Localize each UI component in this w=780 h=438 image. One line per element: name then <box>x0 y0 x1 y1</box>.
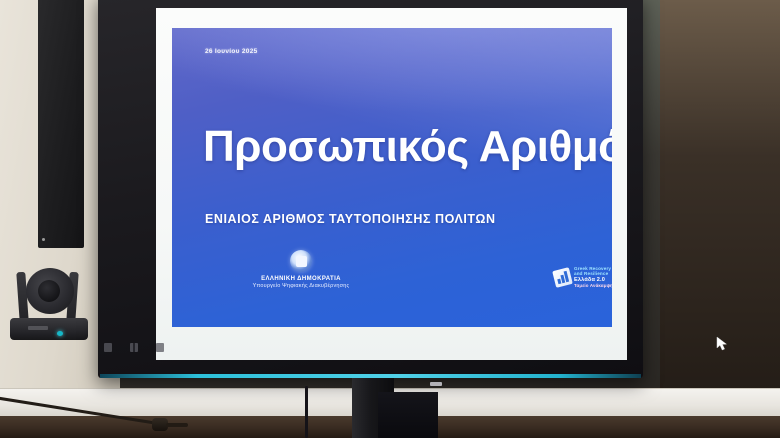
presentation-slide[interactable]: 26 Ιουνίου 2025 Προσωπικός Αριθμός ΕΝΙΑΙ… <box>172 28 612 327</box>
menu-icon[interactable] <box>130 343 138 352</box>
mouse-pointer <box>716 336 730 352</box>
government-logo: ΕΛΛΗΝΙΚΗ ΔΗΜΟΚΡΑΤΙΑ Υπουργείο Ψηφιακής Δ… <box>208 250 394 289</box>
camera-label-strip <box>28 326 48 330</box>
recovery-fund-logo: Greek Recovery and Resilience Ελλάδα 2.0… <box>554 266 612 289</box>
slide-subtitle: ΕΝΙΑΙΟΣ ΑΡΙΘΜΟΣ ΤΑΥΤΟΠΟΙΗΣΗΣ ΠΟΛΙΤΩΝ <box>205 212 496 226</box>
cursor-arrow-icon <box>716 336 730 352</box>
government-logo-line2: Υπουργείο Ψηφιακής Διακυβέρνησης <box>253 283 350 289</box>
ptz-conference-camera <box>10 318 88 340</box>
input-source-icon[interactable] <box>104 343 112 352</box>
camera-lens-icon <box>38 280 60 302</box>
conference-room-scene: 26 Ιουνίου 2025 Προσωπικός Αριθμός ΕΝΙΑΙ… <box>0 0 780 438</box>
greek-republic-emblem-icon <box>290 250 312 272</box>
recovery-fund-text: Greek Recovery and Resilience Ελλάδα 2.0… <box>574 266 612 289</box>
speaker-indicator-icon <box>42 238 45 241</box>
monitor-bezel-controls[interactable] <box>104 340 174 354</box>
monitor-stand-base <box>378 392 438 438</box>
recovery-fund-line3: Ελλάδα 2.0 <box>574 277 612 284</box>
camera-status-led-icon <box>57 331 63 336</box>
right-wall <box>660 0 780 392</box>
slide-date: 26 Ιουνίου 2025 <box>205 48 258 55</box>
microphone-tip <box>166 423 188 427</box>
display-screen[interactable]: 26 Ιουνίου 2025 Προσωπικός Αριθμός ΕΝΙΑΙ… <box>156 8 627 360</box>
speaker-panel <box>38 0 84 248</box>
monitor-cable <box>305 386 308 438</box>
power-icon[interactable] <box>156 343 164 352</box>
stand-indicator-icon <box>430 382 442 386</box>
slide-title: Προσωπικός Αριθμός <box>203 125 612 169</box>
greece-2-0-logo-icon <box>552 267 573 288</box>
recovery-fund-line4: Ταμείο Ανάκαμψης <box>574 283 612 288</box>
emblem-inner-shape <box>296 256 307 267</box>
government-logo-line1: ΕΛΛΗΝΙΚΗ ΔΗΜΟΚΡΑΤΙΑ <box>261 276 341 282</box>
fund-bar-1 <box>557 279 561 284</box>
